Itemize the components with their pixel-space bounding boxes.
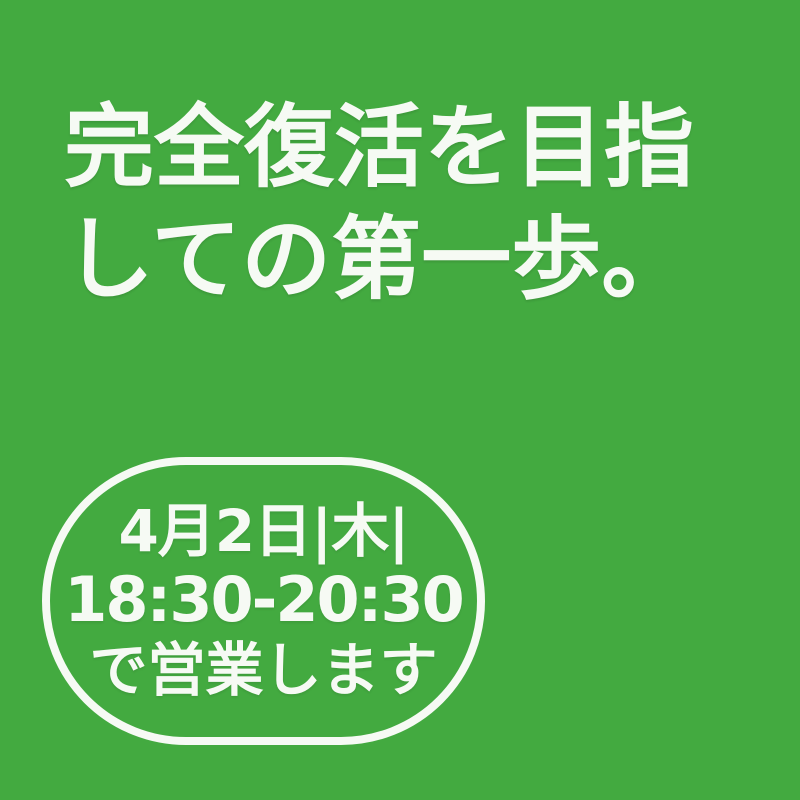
headline-line-1: 完全復活を目指 [56, 92, 744, 204]
schedule-badge: 4月2日|木| 18:30-20:30 で営業します [42, 457, 485, 745]
headline-line-2: しての第一歩。 [56, 204, 744, 316]
headline-block: 完全復活を目指 しての第一歩。 [0, 92, 800, 316]
badge-date-line: 4月2日|木| [118, 497, 408, 565]
poster-canvas: 完全復活を目指 しての第一歩。 4月2日|木| 18:30-20:30 で営業し… [0, 0, 800, 800]
badge-time-line: 18:30-20:30 [64, 565, 462, 635]
badge-note-line: で営業します [89, 635, 437, 705]
